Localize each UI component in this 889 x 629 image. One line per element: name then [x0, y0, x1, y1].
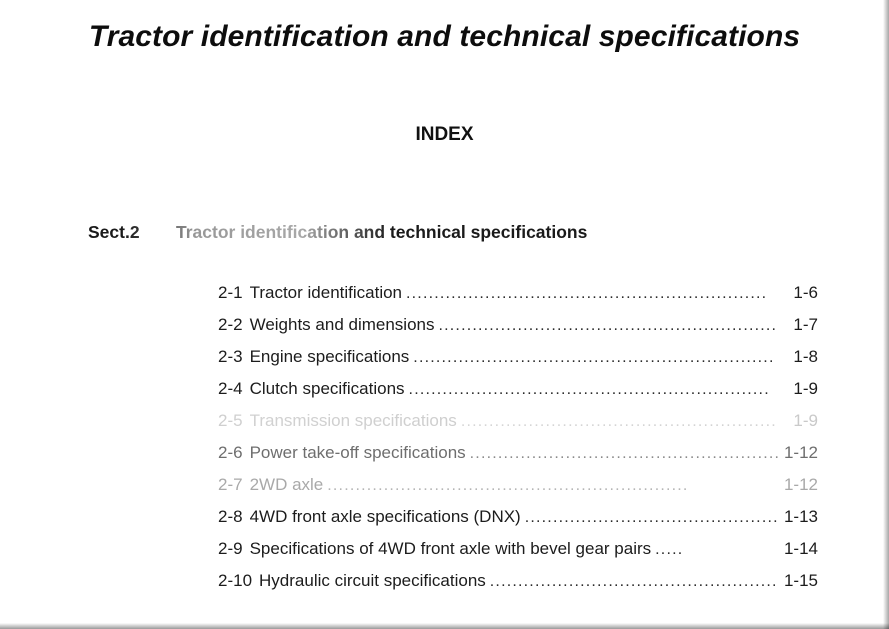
toc-entry[interactable]: 2-7 2WD axle ...........................… — [218, 475, 818, 507]
toc-leader-dots: ........................................… — [323, 477, 778, 495]
toc-entry-number: 2-2 — [218, 315, 250, 335]
toc-entry-number: 2-10 — [218, 571, 259, 591]
toc-leader-dots: ........................................… — [521, 509, 778, 527]
toc-entry-label: 4WD front axle specifications (DNX) — [250, 507, 521, 527]
toc-entry-page: 1-9 — [778, 411, 818, 431]
toc-entry-page: 1-8 — [778, 347, 818, 367]
toc-leader-dots: ..... — [651, 541, 778, 559]
toc-entry-label: Power take-off specifications — [250, 443, 466, 463]
section-title: Tractor identification and technical spe… — [176, 222, 587, 243]
toc-leader-dots: ........................................… — [434, 317, 778, 335]
toc-entry[interactable]: 2-5 Transmission specifications ........… — [218, 411, 818, 443]
toc-entry-label: Transmission specifications — [250, 411, 457, 431]
toc-entry-page: 1-13 — [778, 507, 818, 527]
toc-entry-label: Tractor identification — [250, 283, 402, 303]
toc-entry-page: 1-14 — [778, 539, 818, 559]
toc-entry[interactable]: 2-10 Hydraulic circuit specifications ..… — [218, 571, 818, 603]
toc-entry-number: 2-4 — [218, 379, 250, 399]
index-heading: INDEX — [0, 124, 889, 146]
toc-entry-number: 2-6 — [218, 443, 250, 463]
toc-entry[interactable]: 2-6 Power take-off specifications ......… — [218, 443, 818, 475]
toc-entry-page: 1-9 — [778, 379, 818, 399]
toc-entry-label: Weights and dimensions — [250, 315, 435, 335]
toc-leader-dots: ........................................… — [402, 285, 778, 303]
section-number: Sect.2 — [88, 222, 176, 243]
toc-leader-dots: ........................................… — [405, 381, 778, 399]
toc-entry-label: Clutch specifications — [250, 379, 405, 399]
toc-entry-number: 2-9 — [218, 539, 250, 559]
toc-entry-number: 2-5 — [218, 411, 250, 431]
toc-leader-dots: ........................................… — [457, 413, 778, 431]
toc-entry-page: 1-12 — [778, 475, 818, 495]
page-edge-shadow — [0, 623, 889, 629]
toc-entry-page: 1-12 — [778, 443, 818, 463]
toc-entry-page: 1-15 — [778, 571, 818, 591]
toc-entry[interactable]: 2-8 4WD front axle specifications (DNX) … — [218, 507, 818, 539]
toc-entry-label: Specifications of 4WD front axle with be… — [250, 539, 652, 559]
toc-entry[interactable]: 2-4 Clutch specifications ..............… — [218, 379, 818, 411]
toc-entry-page: 1-7 — [778, 315, 818, 335]
table-of-contents: 2-1 Tractor identification .............… — [218, 283, 818, 603]
toc-leader-dots: ........................................… — [486, 573, 778, 591]
toc-entry-number: 2-3 — [218, 347, 250, 367]
toc-entry-page: 1-6 — [778, 283, 818, 303]
toc-entry[interactable]: 2-9 Specifications of 4WD front axle wit… — [218, 539, 818, 571]
toc-entry-number: 2-8 — [218, 507, 250, 527]
toc-leader-dots: ........................................… — [409, 349, 778, 367]
toc-entry-label: 2WD axle — [250, 475, 324, 495]
toc-entry-number: 2-1 — [218, 283, 250, 303]
toc-entry-number: 2-7 — [218, 475, 250, 495]
toc-entry[interactable]: 2-1 Tractor identification .............… — [218, 283, 818, 315]
section-heading: Sect.2Tractor identification and technic… — [88, 222, 848, 243]
toc-entry[interactable]: 2-3 Engine specifications ..............… — [218, 347, 818, 379]
page-title: Tractor identification and technical spe… — [0, 20, 889, 54]
toc-entry-label: Hydraulic circuit specifications — [259, 571, 486, 591]
toc-leader-dots: ........................................… — [466, 445, 778, 463]
page-edge-shadow — [883, 0, 889, 629]
document-page: Tractor identification and technical spe… — [0, 0, 889, 629]
toc-entry-label: Engine specifications — [250, 347, 410, 367]
toc-entry[interactable]: 2-2 Weights and dimensions .............… — [218, 315, 818, 347]
